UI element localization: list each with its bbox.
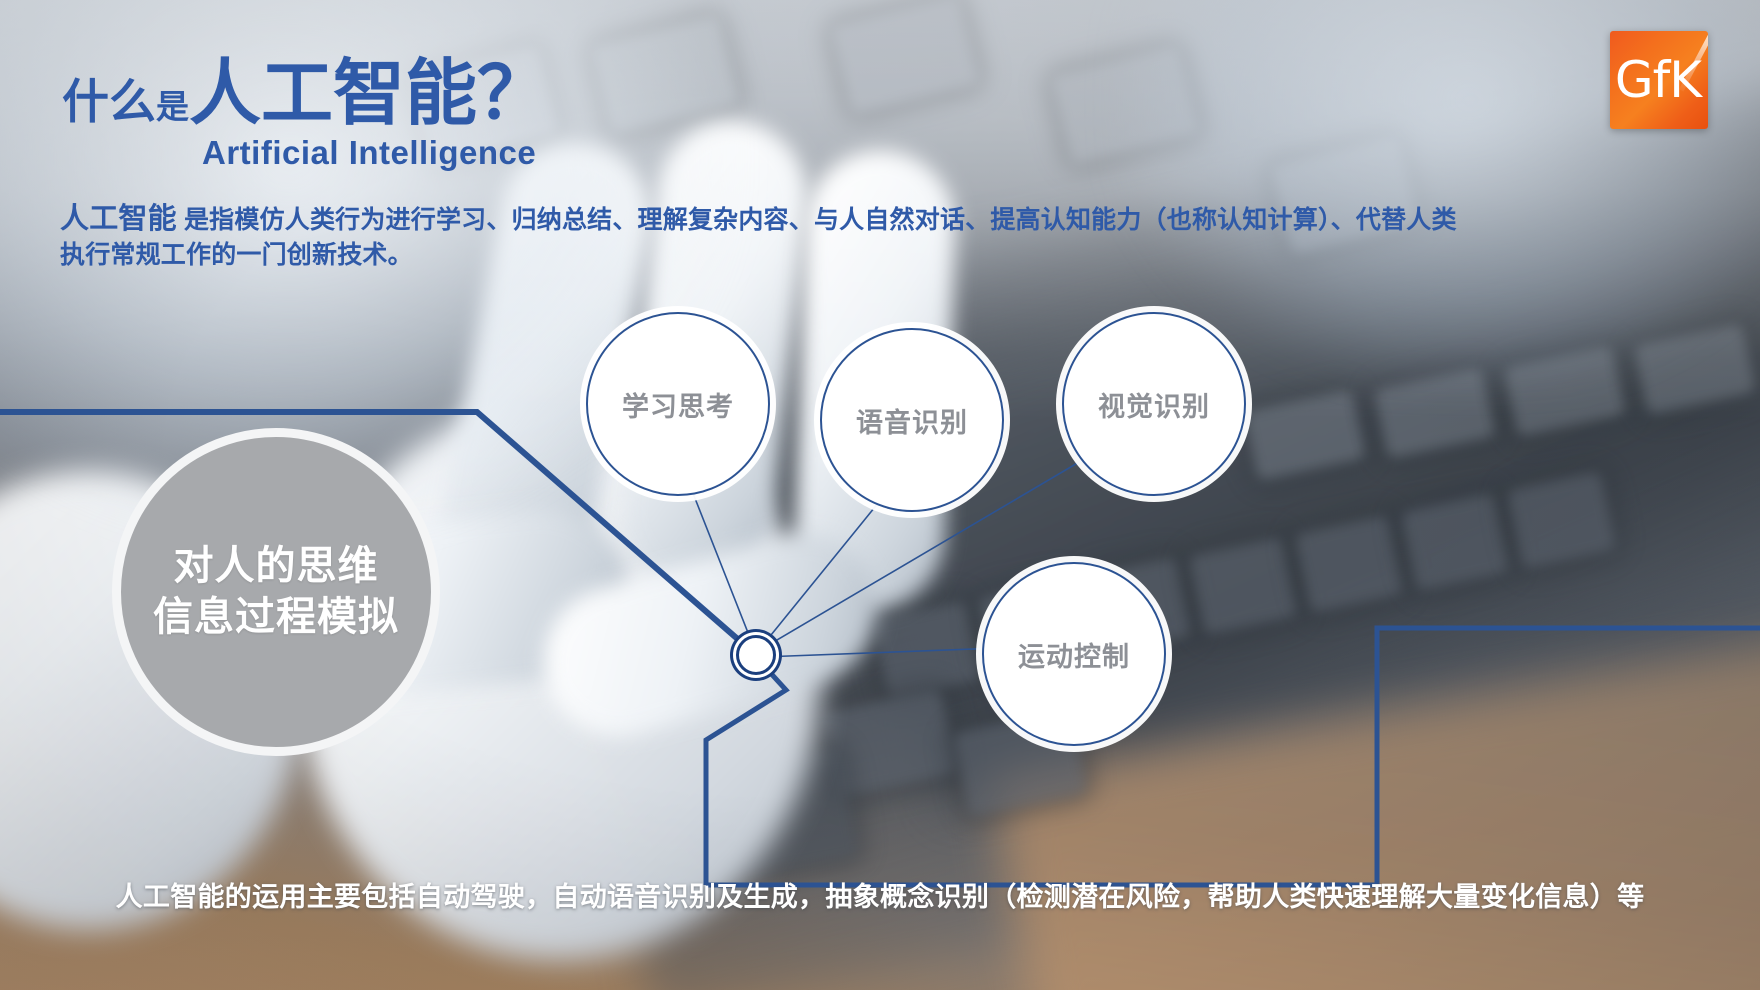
diagram-hub-node <box>736 635 776 675</box>
capability-node-learning[interactable]: 学习思考 <box>586 312 770 496</box>
main-concept-node[interactable]: 对人的思维 信息过程模拟 <box>112 428 440 756</box>
capability-node-vision[interactable]: 视觉识别 <box>1062 312 1246 496</box>
capability-node-motion[interactable]: 运动控制 <box>982 562 1166 746</box>
spoke-to-motion <box>762 648 1000 657</box>
intro-body: 是指模仿人类行为进行学习、归纳总结、理解复杂内容、与人自然对话、提高认知能力（也… <box>60 206 1457 269</box>
title-part-small: 什么 <box>62 75 156 128</box>
capability-node-learning-label: 学习思考 <box>622 385 734 424</box>
capability-node-vision-label: 视觉识别 <box>1098 385 1210 424</box>
title-part-big: 人工智能？ <box>189 54 549 134</box>
gfk-logo: GfK <box>1610 31 1708 129</box>
connector-hub-lower-elbow <box>706 657 786 885</box>
page-subtitle-english: Artificial Intelligence <box>62 134 549 172</box>
page-title: 什么是人工智能？ <box>62 58 549 130</box>
capability-node-motion-label: 运动控制 <box>1018 635 1130 674</box>
main-concept-line-1: 对人的思维 <box>174 541 379 592</box>
main-concept-line-2: 信息过程模拟 <box>153 592 399 643</box>
page-title-block: 什么是人工智能？ Artificial Intelligence <box>62 58 549 172</box>
slide-root: GfK 什么是人工智能？ Artificial Intelligence 人工智… <box>0 0 1760 990</box>
title-part-sub: 是 <box>156 88 189 125</box>
intro-paragraph: 人工智能 是指模仿人类行为进行学习、归纳总结、理解复杂内容、与人自然对话、提高认… <box>60 200 1460 272</box>
footer-caption: 人工智能的运用主要包括自动驾驶，自动语音识别及生成，抽象概念识别（检测潜在风险，… <box>0 875 1760 914</box>
connector-bottom-frame <box>706 628 1760 885</box>
capability-node-speech[interactable]: 语音识别 <box>820 328 1004 512</box>
intro-keyword: 人工智能 <box>60 203 177 235</box>
capability-node-speech-label: 语音识别 <box>856 401 968 440</box>
logo-wordmark: GfK <box>1615 55 1703 105</box>
